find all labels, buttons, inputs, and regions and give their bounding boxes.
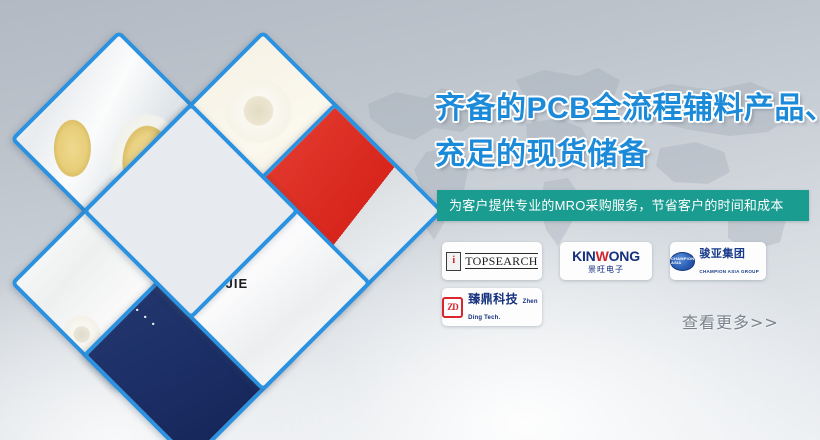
product-image-collage [0, 0, 430, 440]
kinwong-logo: KINWONG 景旺电子 [572, 249, 640, 274]
zhen-ding-mark-icon: ZD [442, 297, 463, 318]
globe-icon: CHAMPION ASIA [670, 252, 695, 271]
zhen-ding-text: 臻鼎科技 Zhen Ding Tech. [468, 291, 542, 323]
subtitle-text: 为客户提供专业的MRO采购服务，节省客户的时间和成本 [437, 199, 784, 212]
zhen-ding-logo: ZD 臻鼎科技 Zhen Ding Tech. [442, 291, 542, 323]
kinwong-part-w: W [596, 248, 609, 264]
view-more-link[interactable]: 查看更多>> [682, 315, 779, 331]
banner-content: 齐备的PCB全流程辅料产品、 充足的现货储备 为客户提供专业的MRO采购服务，节… [432, 0, 820, 440]
partner-logo-row-1: i TOPSEARCH KINWONG 景旺电子 CHAMPION ASIA 骏… [442, 242, 814, 280]
headline-line-2: 充足的现货储备 [435, 134, 817, 176]
headline-line-1: 齐备的PCB全流程辅料产品、 [435, 88, 817, 130]
logo-card-kinwong[interactable]: KINWONG 景旺电子 [560, 242, 652, 280]
topsearch-mark-icon: i [446, 252, 461, 271]
zhen-ding-cn-name: 臻鼎科技 [468, 292, 518, 306]
kinwong-cn-name: 景旺电子 [572, 266, 640, 274]
headline: 齐备的PCB全流程辅料产品、 充足的现货储备 [435, 88, 817, 176]
champion-asia-text: 骏亚集团 CHAMPION ASIA GROUP [699, 245, 766, 277]
topsearch-wordmark: TOPSEARCH [465, 253, 538, 269]
subtitle-bar: 为客户提供专业的MRO采购服务，节省客户的时间和成本 [437, 190, 809, 221]
logo-card-topsearch[interactable]: i TOPSEARCH [442, 242, 542, 280]
kinwong-part-a: KIN [572, 248, 596, 264]
topsearch-logo: i TOPSEARCH [446, 252, 538, 271]
champion-asia-en-name: CHAMPION ASIA GROUP [699, 269, 759, 274]
champion-asia-cn-name: 骏亚集团 [699, 247, 745, 260]
logo-card-zhen-ding[interactable]: ZD 臻鼎科技 Zhen Ding Tech. [442, 288, 542, 326]
champion-asia-logo: CHAMPION ASIA 骏亚集团 CHAMPION ASIA GROUP [670, 245, 766, 277]
kinwong-wordmark: KINWONG [572, 249, 640, 263]
kinwong-part-b: ONG [609, 248, 640, 264]
hero-banner: 齐备的PCB全流程辅料产品、 充足的现货储备 为客户提供专业的MRO采购服务，节… [0, 0, 820, 440]
logo-card-champion-asia[interactable]: CHAMPION ASIA 骏亚集团 CHAMPION ASIA GROUP [670, 242, 766, 280]
